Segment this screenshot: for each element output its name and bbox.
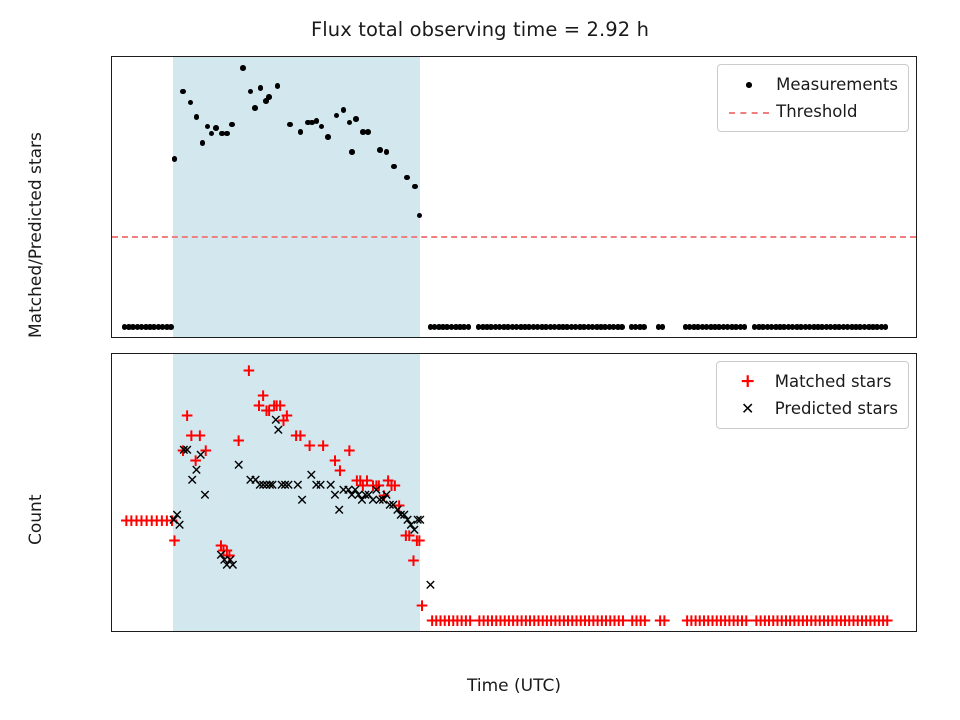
x-tick-mark — [903, 631, 904, 632]
x-tick-mark — [650, 337, 651, 338]
x-tick-mark — [228, 337, 229, 338]
measurement-point — [353, 116, 359, 122]
measurement-point — [404, 175, 410, 181]
x-tick-mark — [650, 631, 651, 632]
x-tick-mark — [481, 337, 482, 338]
measurement-point — [365, 129, 371, 135]
x-tick-mark — [143, 631, 144, 632]
x-tick-mark — [734, 337, 735, 338]
figure-canvas: Flux total observing time = 2.92 h 0.000… — [0, 0, 960, 720]
legend-label-measurements: Measurements — [772, 75, 898, 94]
y-tick-mark — [111, 145, 112, 146]
legend-label-threshold: Threshold — [772, 102, 857, 121]
ratio-panel: 0.000.250.500.751.001.25 Measurements Th… — [111, 56, 917, 338]
measurement-point — [377, 147, 383, 153]
measurement-point — [384, 149, 390, 155]
measurement-point — [466, 324, 472, 330]
measurement-point — [266, 94, 272, 100]
legend-item-threshold: Threshold — [726, 98, 898, 125]
y-tick-mark — [111, 236, 112, 237]
ratio-legend[interactable]: Measurements Threshold — [717, 64, 909, 132]
threshold-line — [112, 236, 916, 238]
measurement-point — [341, 107, 347, 113]
x-tick-mark — [481, 631, 482, 632]
x-tick-mark — [903, 337, 904, 338]
measurement-point — [252, 105, 258, 111]
measurement-point — [168, 324, 174, 330]
x-tick-mark — [566, 337, 567, 338]
y-tick-mark — [111, 441, 112, 442]
x-tick-mark — [397, 337, 398, 338]
measurement-point — [391, 164, 397, 170]
y-tick-mark — [111, 327, 112, 328]
y-tick-mark — [111, 591, 112, 592]
count-y-axis-label: Count — [26, 495, 46, 546]
legend-item-predicted-stars: ✕ Predicted stars — [725, 395, 898, 422]
measurement-point — [660, 324, 666, 330]
y-tick-mark — [111, 190, 112, 191]
x-axis-label: Time (UTC) — [111, 676, 917, 696]
y-tick-mark — [111, 491, 112, 492]
y-tick-mark — [111, 541, 112, 542]
measurement-point — [213, 125, 219, 131]
x-tick-mark — [228, 631, 229, 632]
measurement-point — [224, 131, 230, 137]
y-tick-mark — [111, 281, 112, 282]
y-tick-mark — [111, 99, 112, 100]
legend-item-matched-stars: + Matched stars — [725, 368, 898, 395]
cross-marker-icon: ✕ — [725, 401, 771, 417]
x-tick-mark — [566, 631, 567, 632]
count-panel: ++++++++++++++++++++++++++++++++++++++++… — [111, 353, 917, 632]
measurement-point — [641, 324, 647, 330]
x-tick-mark — [397, 631, 398, 632]
figure-title: Flux total observing time = 2.92 h — [0, 18, 960, 41]
measurement-point — [417, 213, 423, 219]
x-tick-mark — [312, 631, 313, 632]
x-tick-mark — [819, 631, 820, 632]
legend-item-measurements: Measurements — [726, 71, 898, 98]
measurement-point — [742, 324, 748, 330]
measurement-point — [298, 129, 304, 135]
x-tick-mark — [734, 631, 735, 632]
legend-label-matched-stars: Matched stars — [771, 372, 892, 391]
measurement-point — [619, 324, 625, 330]
measurement-point — [200, 140, 206, 146]
ratio-y-axis-label: Matched/Predicted stars — [26, 132, 46, 338]
x-tick-mark — [312, 337, 313, 338]
measurement-point — [883, 324, 889, 330]
measurement-point — [314, 118, 320, 124]
measurement-point — [240, 65, 246, 71]
count-legend[interactable]: + Matched stars ✕ Predicted stars — [716, 361, 909, 429]
plus-marker-icon: + — [725, 372, 771, 391]
measurement-point — [229, 122, 235, 128]
legend-label-predicted-stars: Predicted stars — [771, 399, 898, 418]
y-tick-mark — [111, 391, 112, 392]
x-tick-mark — [143, 337, 144, 338]
measurements-marker-icon — [726, 77, 772, 93]
measurement-point — [325, 134, 331, 140]
measurement-point — [349, 149, 355, 155]
x-tick-mark — [819, 337, 820, 338]
observing-window-shade-top — [173, 57, 420, 337]
